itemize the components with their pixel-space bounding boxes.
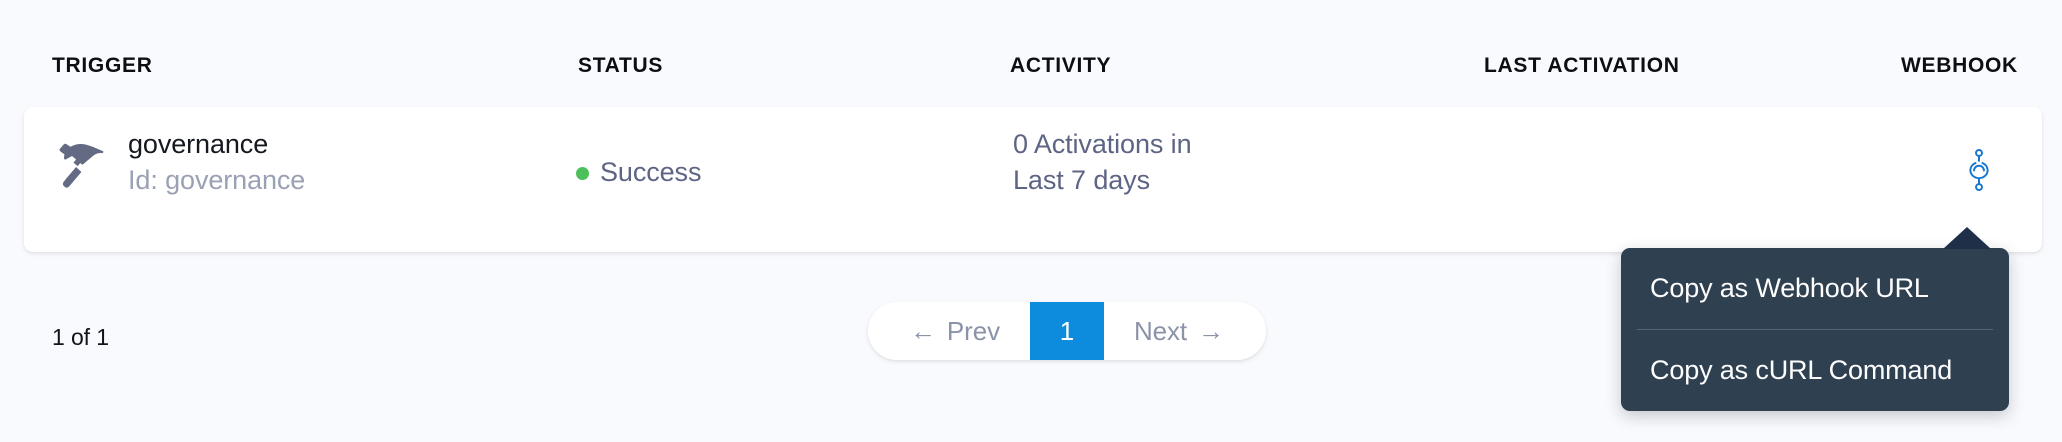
status-dot-icon (576, 167, 589, 180)
result-count: 1 of 1 (52, 324, 109, 351)
trigger-text-block: governance Id: governance (128, 129, 305, 197)
menu-item-copy-curl-command[interactable]: Copy as cURL Command (1621, 330, 2009, 411)
pagination-prev-button[interactable]: ← Prev (868, 302, 1030, 360)
activity-line-2: Last 7 days (1013, 165, 1192, 197)
menu-item-copy-webhook-url[interactable]: Copy as Webhook URL (1621, 248, 2009, 329)
trigger-name: governance (128, 129, 305, 161)
menu-arrow-icon (1943, 227, 1991, 249)
pagination-prev-label: Prev (947, 316, 1000, 347)
table-row[interactable]: governance Id: governance Success 0 Acti… (24, 107, 2042, 252)
table-header-row: TRIGGER STATUS ACTIVITY LAST ACTIVATION … (0, 0, 2062, 92)
column-header-webhook: WEBHOOK (1901, 54, 2018, 78)
arrow-right-icon: → (1198, 318, 1224, 344)
column-header-last-activation: LAST ACTIVATION (1484, 54, 1680, 78)
webhook-icon[interactable] (1964, 149, 1994, 191)
webhook-cell[interactable] (1919, 149, 2039, 191)
activity-cell: 0 Activations in Last 7 days (1013, 129, 1192, 197)
trigger-id: Id: governance (128, 165, 305, 197)
pagination: ← Prev 1 Next → (868, 302, 1266, 360)
column-header-activity: ACTIVITY (1010, 54, 1111, 78)
webhook-context-menu: Copy as Webhook URL Copy as cURL Command (1621, 248, 2009, 411)
hammer-icon (52, 135, 108, 191)
pagination-next-label: Next (1134, 316, 1187, 347)
status-label: Success (600, 157, 701, 188)
column-header-trigger: TRIGGER (52, 54, 153, 78)
triggers-table-page: TRIGGER STATUS ACTIVITY LAST ACTIVATION … (0, 0, 2062, 442)
activity-line-1: 0 Activations in (1013, 129, 1192, 161)
pagination-next-button[interactable]: Next → (1104, 302, 1266, 360)
trigger-cell: governance Id: governance (52, 129, 305, 197)
pagination-page-1-button[interactable]: 1 (1030, 302, 1104, 360)
column-header-status: STATUS (578, 54, 663, 78)
status-cell: Success (576, 157, 701, 188)
arrow-left-icon: ← (910, 318, 936, 344)
